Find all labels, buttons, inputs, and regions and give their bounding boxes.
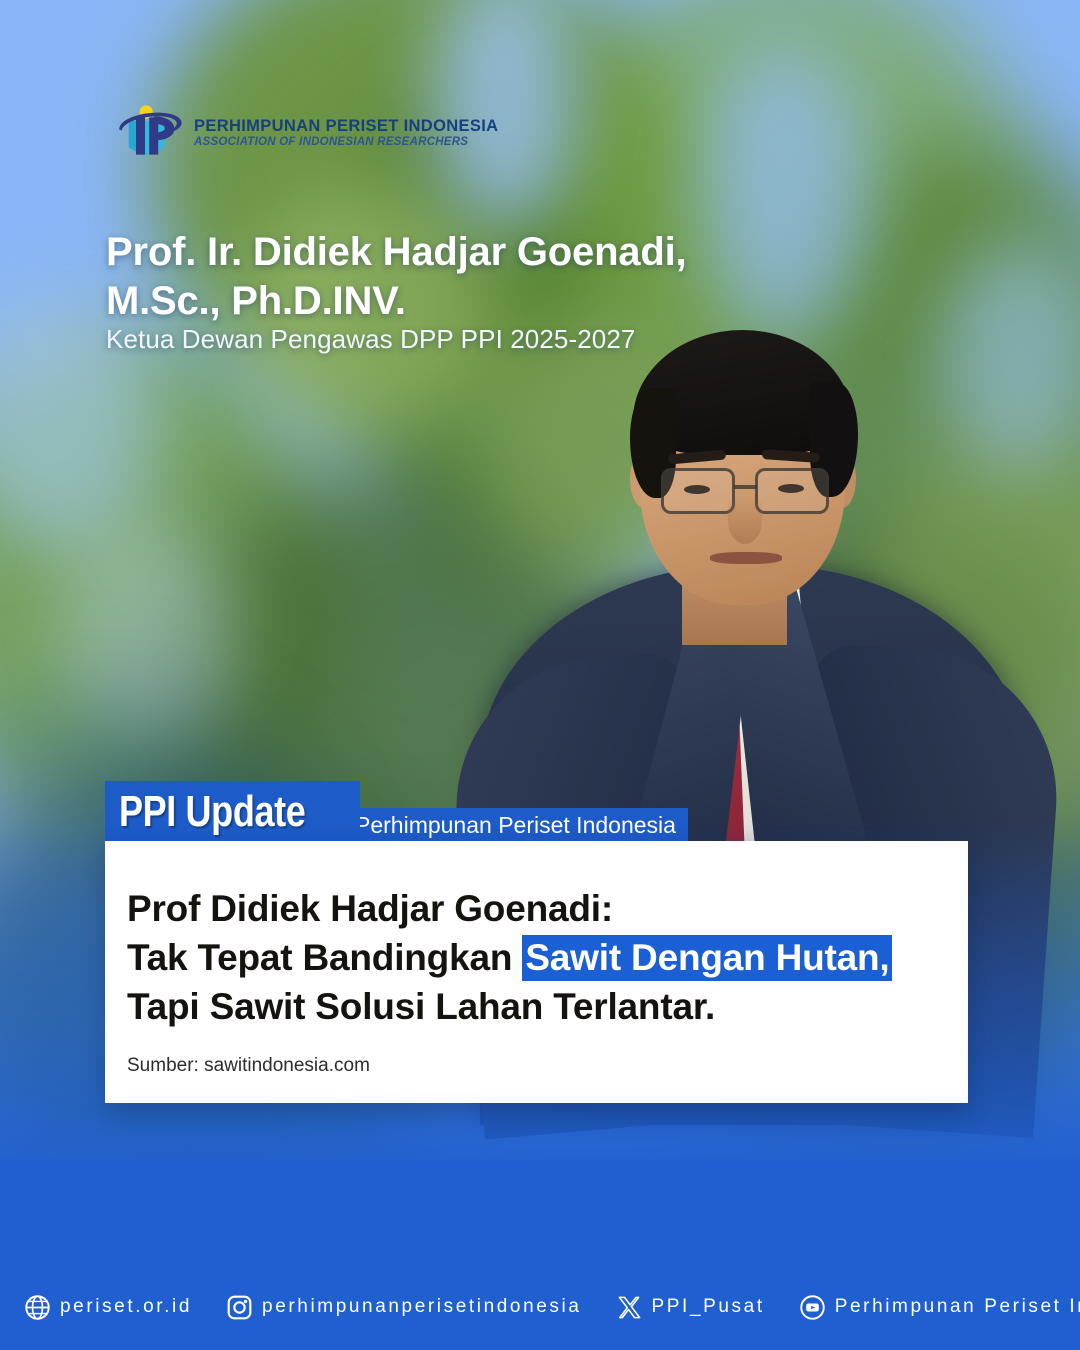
headline-line-2-prefix: Tak Tepat Bandingkan — [127, 937, 522, 978]
subject-name-block: Prof. Ir. Didiek Hadjar Goenadi, M.Sc., … — [106, 228, 846, 355]
footer-item-youtube[interactable]: Perhimpunan Periset Indonesia — [799, 1294, 1080, 1321]
eyeglasses-lens-left — [661, 468, 735, 514]
subject-name-line-1: Prof. Ir. Didiek Hadjar Goenadi, — [106, 228, 846, 277]
org-tagline: ASSOCIATION OF INDONESIAN RESEARCHERS — [194, 136, 498, 148]
headline-card: Prof Didiek Hadjar Goenadi: Tak Tepat Ba… — [105, 841, 968, 1103]
nose — [728, 498, 762, 544]
subject-role: Ketua Dewan Pengawas DPP PPI 2025-2027 — [106, 324, 846, 355]
headline-line-3: Tapi Sawit Solusi Lahan Terlantar. — [127, 983, 938, 1032]
source-line: Sumber: sawitindonesia.com — [127, 1055, 938, 1077]
social-media-poster: PERHIMPUNAN PERISET INDONESIA ASSOCIATIO… — [0, 0, 1080, 1350]
footer-label-website: periset.or.id — [60, 1296, 192, 1318]
ppi-logo[interactable]: PERHIMPUNAN PERISET INDONESIA ASSOCIATIO… — [112, 103, 498, 163]
mouth — [710, 552, 782, 564]
footer-social-bar: periset.or.id perhimpunanperisetindonesi… — [0, 1264, 1080, 1350]
eyeglasses-bridge — [734, 485, 757, 489]
footer-item-website[interactable]: periset.or.id — [24, 1294, 192, 1321]
footer-item-x[interactable]: PPI_Pusat — [616, 1294, 765, 1321]
footer-item-instagram[interactable]: perhimpunanperisetindonesia — [226, 1294, 581, 1321]
globe-icon — [24, 1294, 51, 1321]
footer-label-youtube: Perhimpunan Periset Indonesia — [835, 1296, 1080, 1318]
subject-name-line-2: M.Sc., Ph.D.INV. — [106, 277, 846, 326]
logo-wordmark: PERHIMPUNAN PERISET INDONESIA ASSOCIATIO… — [194, 118, 498, 147]
eyeglasses-lens-right — [755, 468, 829, 514]
banner-subtitle-band: Perhimpunan Periset Indonesia — [346, 808, 688, 842]
ppi-logo-mark — [112, 103, 184, 163]
instagram-icon — [226, 1294, 253, 1321]
chin-highlight — [700, 568, 790, 598]
headline-highlight: Sawit Dengan Hutan, — [522, 935, 891, 981]
headline-line-2: Tak Tepat Bandingkan Sawit Dengan Hutan, — [127, 934, 938, 983]
org-name: PERHIMPUNAN PERISET INDONESIA — [194, 118, 498, 135]
footer-label-instagram: perhimpunanperisetindonesia — [262, 1296, 581, 1318]
banner-title: PPI Update — [119, 787, 305, 837]
youtube-icon — [799, 1294, 826, 1321]
x-twitter-icon — [616, 1294, 643, 1321]
banner-title-block: PPI Update — [105, 781, 360, 842]
headline-line-1: Prof Didiek Hadjar Goenadi: — [127, 885, 938, 934]
banner-subtitle: Perhimpunan Periset Indonesia — [355, 812, 676, 839]
headline: Prof Didiek Hadjar Goenadi: Tak Tepat Ba… — [127, 885, 938, 1031]
footer-label-x: PPI_Pusat — [652, 1296, 765, 1318]
